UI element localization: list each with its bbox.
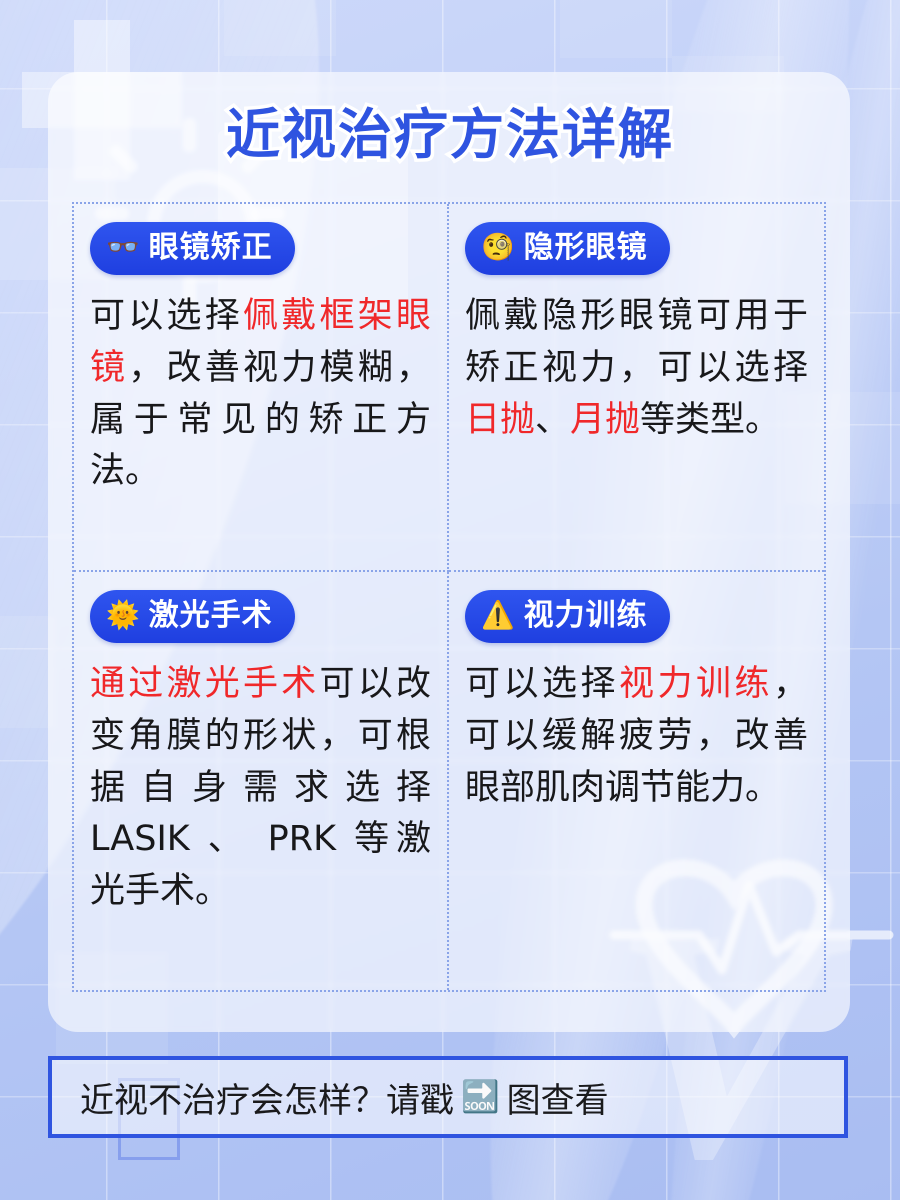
method-card-laser-surgery[interactable]: 🌞 激光手术 通过激光手术可以改变角膜的形状，可根据自身需求选择 LASIK 、… xyxy=(74,572,449,990)
body-text: 可以选择 xyxy=(465,664,619,704)
method-card-grid: 👓 眼镜矫正 可以选择佩戴框架眼镜，改善视力模糊，属于常见的矫正方法。 🧐 隐形… xyxy=(72,202,826,992)
card-body-1: 可以选择佩戴框架眼镜，改善视力模糊，属于常见的矫正方法。 xyxy=(90,291,431,498)
face-with-monocle-icon: 🧐 xyxy=(481,234,516,261)
highlighted-text: 通过激光手术 xyxy=(90,664,319,704)
glasses-icon: 👓 xyxy=(106,234,141,261)
card-body-4: 可以选择视力训练，可以缓解疲劳，改善眼部肌肉调节能力。 xyxy=(465,659,808,814)
card-heading-label-1: 眼镜矫正 xyxy=(149,231,273,264)
footer-text: 近视不治疗会怎样？请戳 🔜 图查看 xyxy=(52,1073,609,1122)
footer-text-after: 图查看 xyxy=(507,1073,609,1122)
card-body-2: 佩戴隐形眼镜可用于矫正视力，可以选择日抛、月抛等类型。 xyxy=(465,291,808,446)
method-card-glasses[interactable]: 👓 眼镜矫正 可以选择佩戴框架眼镜，改善视力模糊，属于常见的矫正方法。 xyxy=(74,204,449,572)
highlighted-text: 月抛 xyxy=(570,400,640,440)
body-text: 可以选择 xyxy=(90,296,243,336)
body-text: 佩戴隐形眼镜可用于矫正视力，可以选择 xyxy=(465,296,808,388)
card-heading-pill-3: 🌞 激光手术 xyxy=(90,590,295,643)
page-title: 近视治疗方法详解 xyxy=(0,90,900,169)
body-text: ，改善视力模糊，属于常见的矫正方法。 xyxy=(90,348,431,492)
highlighted-text: 日抛 xyxy=(465,400,535,440)
card-heading-label-3: 激光手术 xyxy=(149,599,273,632)
body-text: 、 xyxy=(535,400,570,440)
highlighted-text: 视力训练 xyxy=(619,664,773,704)
card-body-3: 通过激光手术可以改变角膜的形状，可根据自身需求选择 LASIK 、 PRK 等激… xyxy=(90,659,431,918)
warning-icon: ⚠️ xyxy=(481,602,516,629)
body-text: 等类型。 xyxy=(640,400,780,440)
card-heading-label-4: 视力训练 xyxy=(524,599,648,632)
card-heading-pill-4: ⚠️ 视力训练 xyxy=(465,590,670,643)
method-card-contacts[interactable]: 🧐 隐形眼镜 佩戴隐形眼镜可用于矫正视力，可以选择日抛、月抛等类型。 xyxy=(449,204,824,572)
soon-arrow-icon: 🔜 xyxy=(458,1082,503,1113)
card-heading-pill-2: 🧐 隐形眼镜 xyxy=(465,222,670,275)
footer-callout[interactable]: 近视不治疗会怎样？请戳 🔜 图查看 xyxy=(48,1056,848,1138)
sun-with-face-icon: 🌞 xyxy=(106,602,141,629)
method-card-vision-training[interactable]: ⚠️ 视力训练 可以选择视力训练，可以缓解疲劳，改善眼部肌肉调节能力。 xyxy=(449,572,824,990)
card-heading-label-2: 隐形眼镜 xyxy=(524,231,648,264)
footer-text-before: 近视不治疗会怎样？请戳 xyxy=(80,1073,454,1122)
card-heading-pill-1: 👓 眼镜矫正 xyxy=(90,222,295,275)
